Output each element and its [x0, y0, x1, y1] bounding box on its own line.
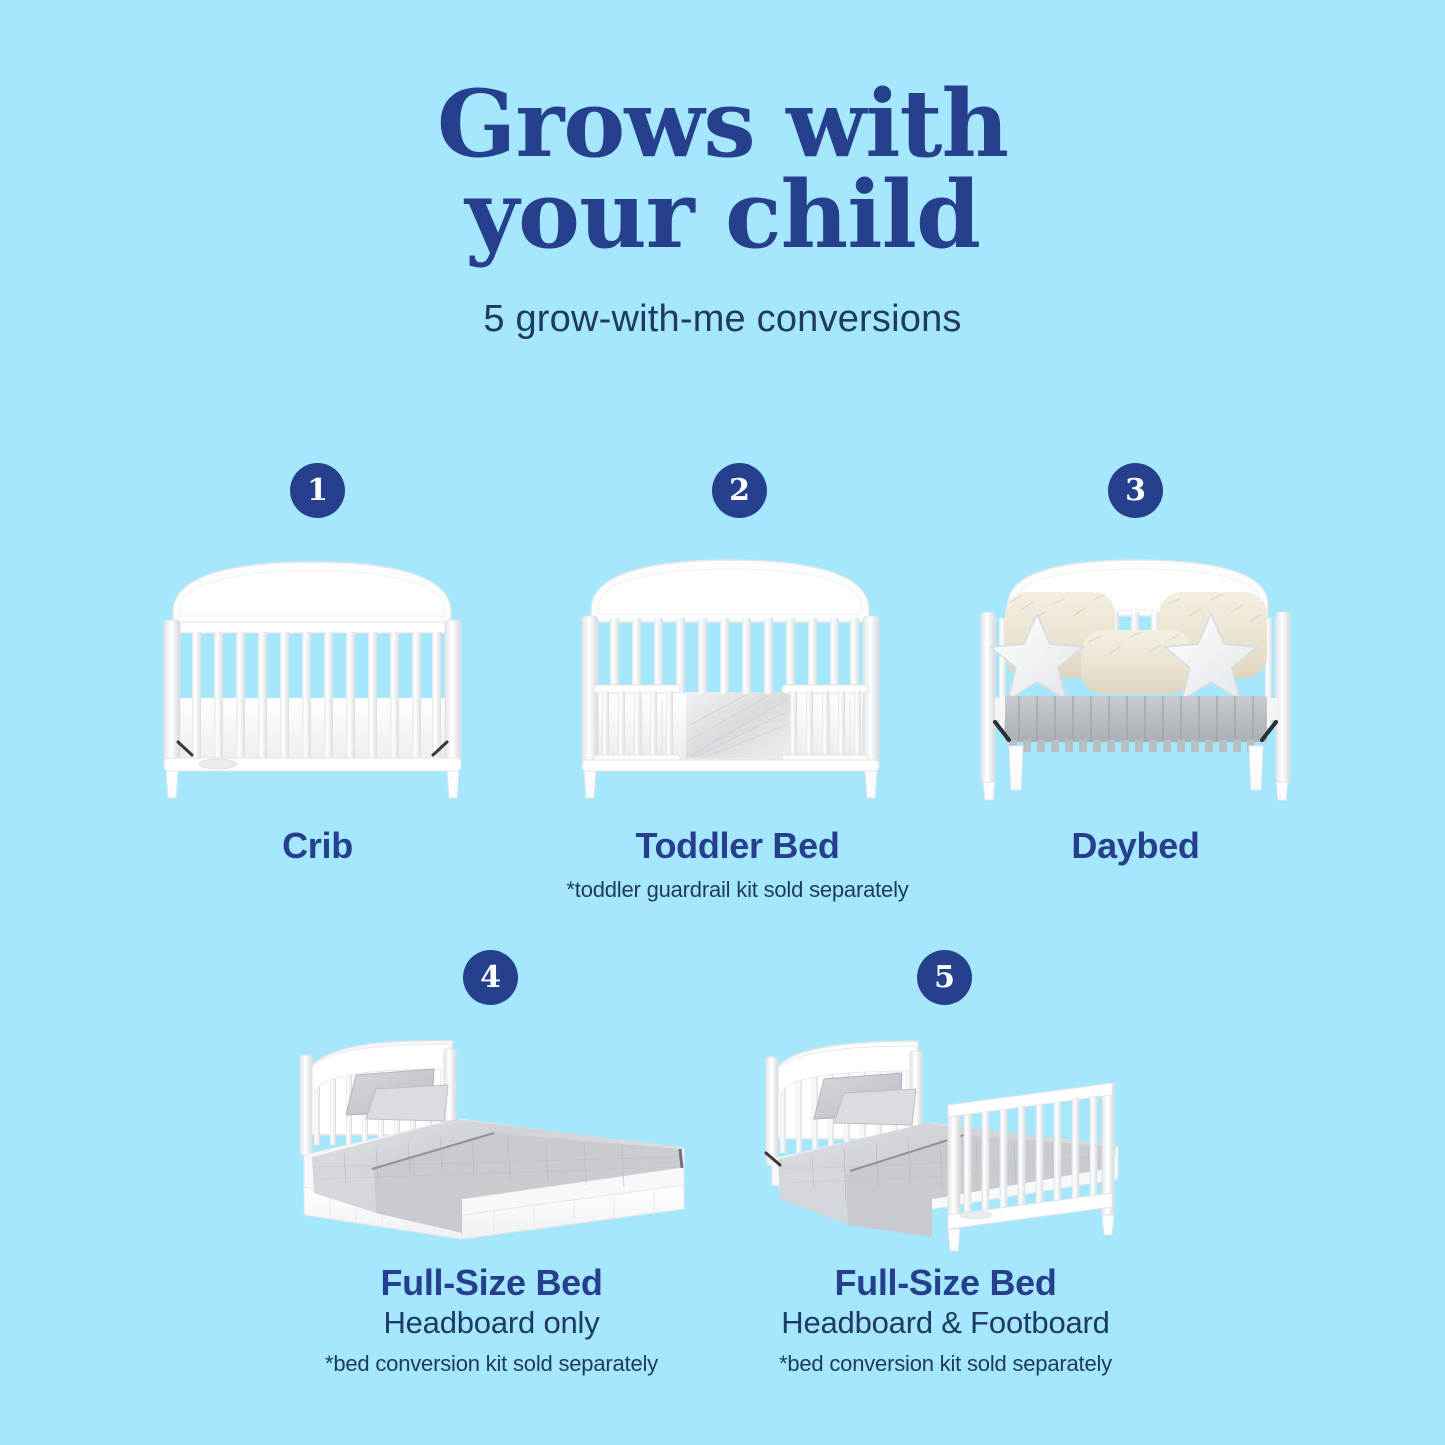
page-title-line-2: your child [0, 169, 1445, 260]
caption-title-daybed: Daybed [868, 825, 1403, 867]
infographic-page: Grows with your child 5 grow-with-me con… [0, 0, 1445, 1445]
header: Grows with your child 5 grow-with-me con… [0, 0, 1445, 341]
step-badge-4-number: 4 [480, 963, 501, 993]
step-badge-2-number: 2 [729, 476, 750, 506]
full-size-bed-headboard-illustration [284, 1027, 694, 1252]
toddler-bed-illustration [558, 550, 903, 800]
crib-illustration [140, 550, 485, 800]
step-badge-2: 2 [712, 463, 767, 518]
daybed-illustration [963, 550, 1308, 800]
conversion-item-daybed: 3 [868, 455, 1403, 925]
page-subtitle: 5 grow-with-me conversions [0, 260, 1445, 341]
step-badge-3-number: 3 [1125, 476, 1146, 506]
conversion-item-full-size-bed-headboard-footboard: 5 [678, 942, 1213, 1402]
step-badge-1-number: 1 [307, 476, 328, 506]
caption-daybed: Daybed [868, 825, 1403, 867]
step-badge-5-number: 5 [934, 963, 955, 993]
step-badge-4: 4 [463, 950, 518, 1005]
step-badge-1: 1 [290, 463, 345, 518]
caption-note-full-size-bed-headboard-footboard: *bed conversion kit sold separately [678, 1341, 1213, 1377]
caption-title-full-size-bed-headboard-footboard: Full-Size Bed [678, 1262, 1213, 1304]
page-title: Grows with your child [0, 0, 1445, 260]
caption-full-size-bed-headboard-footboard: Full-Size Bed Headboard & Footboard *bed… [678, 1262, 1213, 1377]
full-size-bed-headboard-footboard-illustration [750, 1027, 1150, 1252]
caption-subtitle-full-size-bed-headboard-footboard: Headboard & Footboard [678, 1304, 1213, 1341]
step-badge-5: 5 [917, 950, 972, 1005]
step-badge-3: 3 [1108, 463, 1163, 518]
